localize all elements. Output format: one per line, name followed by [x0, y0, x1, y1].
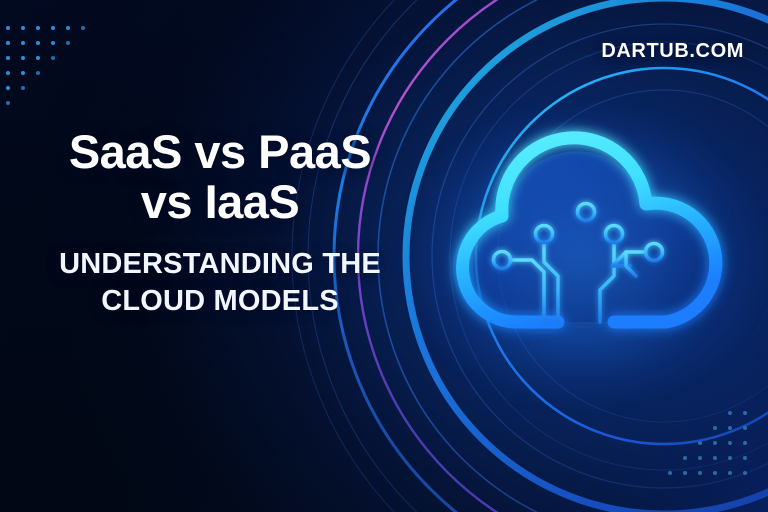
brand-watermark: DARTUB.COM — [601, 40, 744, 63]
dot-grid-bottom-right — [668, 411, 758, 486]
dot-grid-top-left — [6, 26, 96, 116]
poster-canvas: DARTUB.COM SaaS vs PaaS vs IaaS UNDERSTA… — [0, 0, 768, 512]
title-line-1: SaaS vs PaaS — [69, 125, 371, 178]
subtitle-line-1: UNDERSTANDING THE — [59, 248, 381, 280]
headline-block: SaaS vs PaaS vs IaaS UNDERSTANDING THE C… — [0, 127, 440, 320]
title-line-2: vs IaaS — [141, 175, 300, 228]
page-title: SaaS vs PaaS vs IaaS — [0, 127, 440, 227]
cloud-circuit-icon — [440, 136, 732, 380]
page-subtitle: UNDERSTANDING THE CLOUD MODELS — [0, 246, 440, 320]
subtitle-line-2: CLOUD MODELS — [101, 285, 339, 317]
